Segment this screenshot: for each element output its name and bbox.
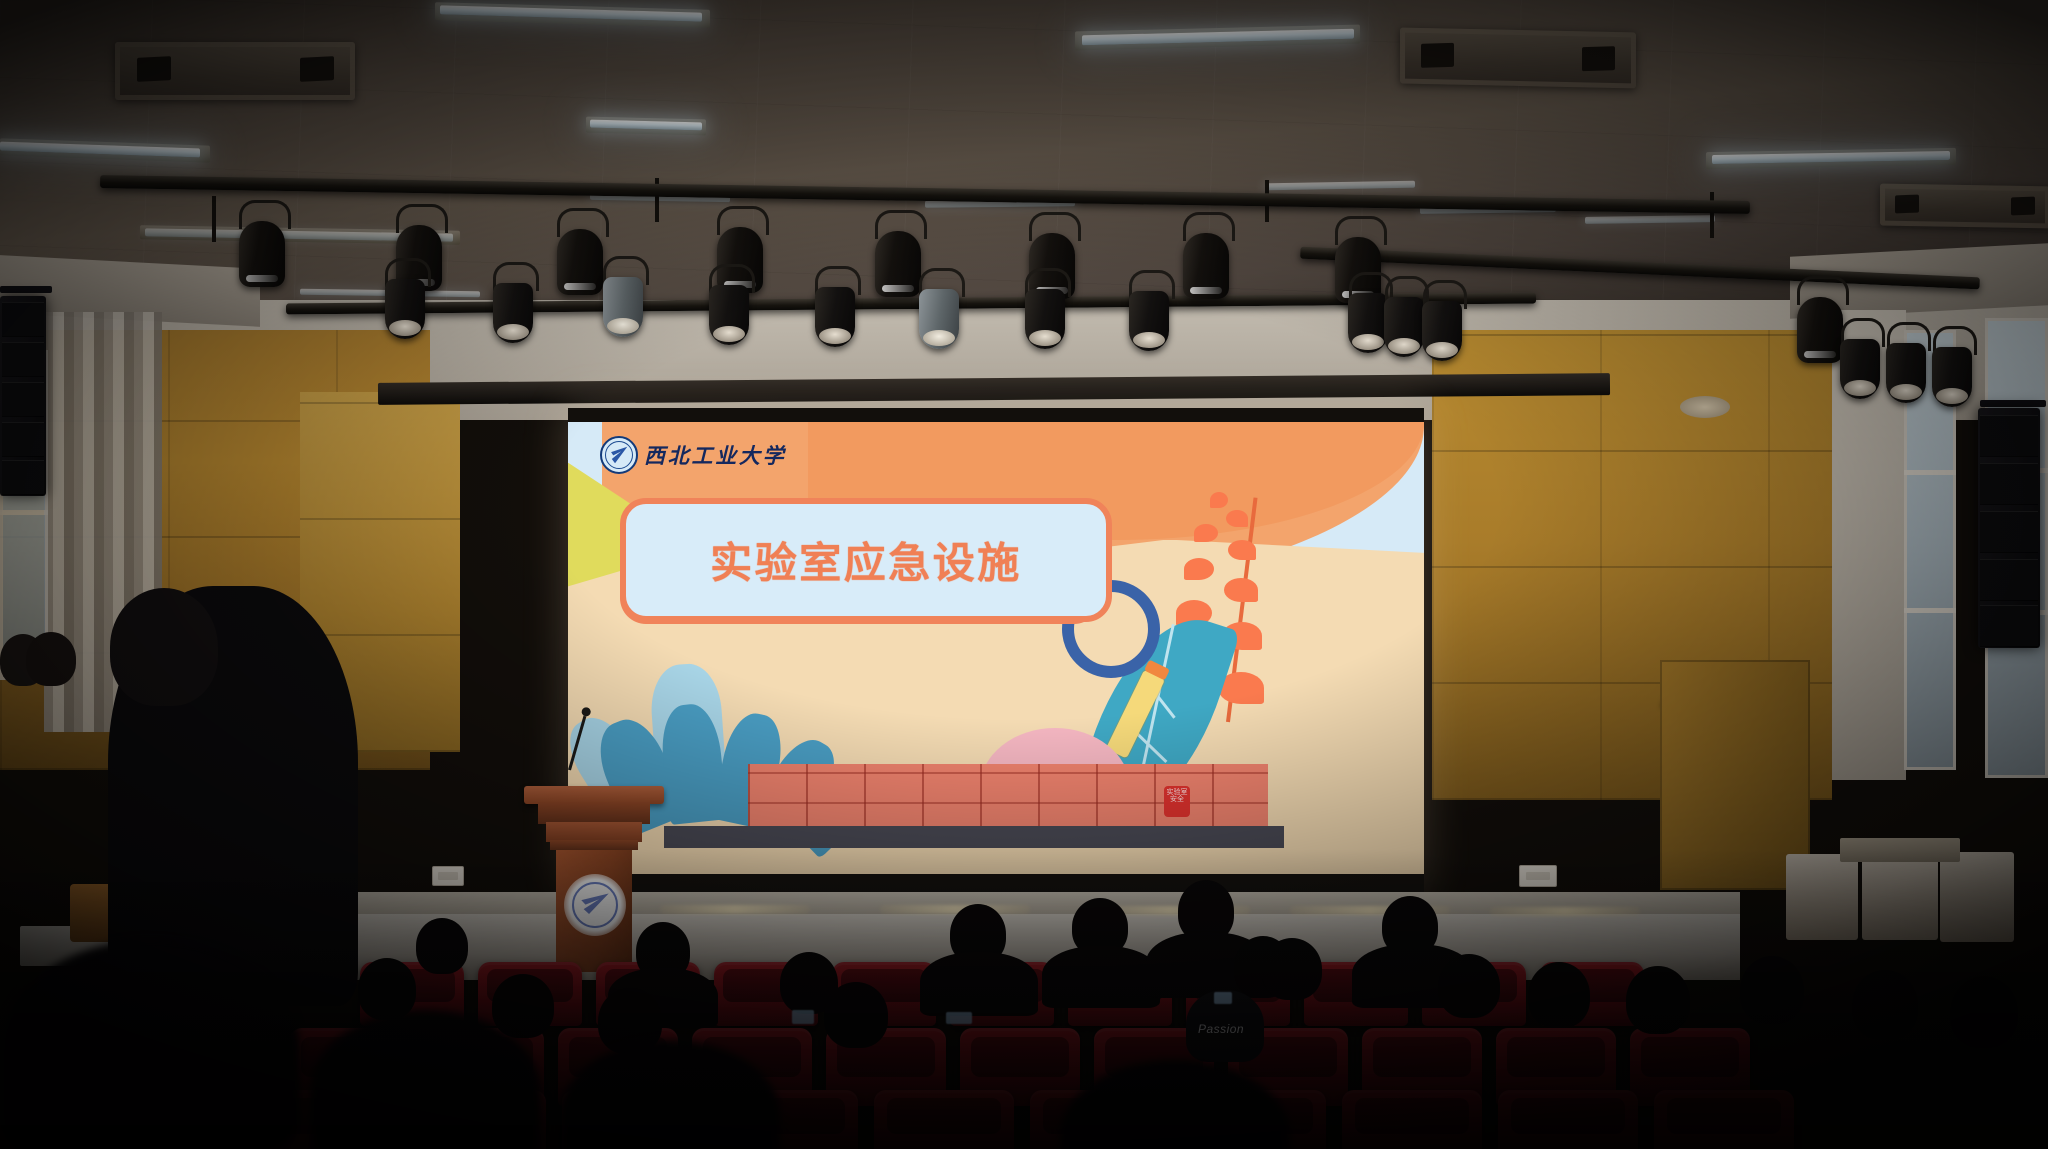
fresnel-body <box>1025 289 1065 349</box>
fresnel-stage-light <box>706 264 752 348</box>
university-name: 西北工业大学 <box>644 440 786 470</box>
phone-screen-glow <box>1214 992 1232 1004</box>
window-mullion <box>1904 608 1956 613</box>
fresnel-body <box>1129 291 1169 351</box>
spotlight-body <box>1183 233 1229 299</box>
speaker-mount-bar <box>0 286 52 293</box>
wooden-chair[interactable] <box>1786 854 1858 940</box>
audience-member-head <box>1438 954 1500 1018</box>
stage-spotlight <box>1838 318 1882 396</box>
stage-spotlight <box>1180 212 1232 304</box>
air-conditioning-vent <box>1880 184 2048 229</box>
audience-member-head <box>824 982 888 1048</box>
audience-member-head <box>1262 938 1322 1000</box>
slide-title: 实验室应急设施 <box>626 530 1106 591</box>
fresnel-body <box>385 279 425 339</box>
fern-leaf <box>1210 492 1228 508</box>
audience-member-head <box>1950 976 2018 1048</box>
screen-bottom-bar <box>568 874 1424 892</box>
seal-text: 实验室安全 <box>1167 788 1188 803</box>
stage-footlight <box>880 905 1030 914</box>
phone-screen-glow <box>792 1010 814 1024</box>
fresnel-stage-light <box>1022 268 1068 352</box>
title-box: 实验室应急设施 <box>620 498 1112 622</box>
left-line-array-speaker <box>0 296 46 496</box>
fresnel-body <box>815 287 855 347</box>
ceiling-dome-light <box>1680 396 1730 418</box>
fresnel-stage-light <box>490 262 536 346</box>
window-mullion <box>1904 470 1956 475</box>
university-seal-icon <box>600 436 638 474</box>
coral-tiled-floor <box>748 764 1268 834</box>
cap-brand-text: Passion <box>1198 1022 1244 1036</box>
speaker-module <box>2 302 44 336</box>
fresnel-body <box>919 289 959 349</box>
speaker-module <box>1980 415 2037 456</box>
presentation-slide: 西北工业大学 <box>568 422 1424 874</box>
fern-leaf <box>1224 578 1258 602</box>
screen-top-bar <box>568 408 1424 422</box>
audience-member-head <box>1852 970 1918 1040</box>
stage-spotlight <box>236 200 288 292</box>
fresnel-body <box>709 285 749 345</box>
spotlight-body <box>239 221 285 287</box>
spotlight-body <box>1932 347 1972 407</box>
spotlight-body <box>875 231 921 297</box>
audience-member-head <box>416 918 468 974</box>
speaker-module <box>1980 605 2037 646</box>
foreground-person <box>0 940 300 1149</box>
right-line-array-speaker <box>1978 408 2040 648</box>
truss-drop-rod <box>212 196 216 242</box>
auditorium-seat[interactable] <box>1654 1090 1794 1149</box>
stage-spotlight <box>1420 280 1464 358</box>
fern-leaf <box>1228 540 1256 560</box>
podium-lip <box>538 802 650 824</box>
stage-footlight <box>1490 907 1640 916</box>
stage-footlight <box>660 905 810 914</box>
spotlight-body <box>557 229 603 295</box>
stage-spotlight <box>1884 322 1928 400</box>
fern-leaf <box>1184 558 1214 580</box>
spotlight-body <box>1384 297 1424 357</box>
audience-member-shoulders <box>920 952 1038 1016</box>
audience-member-head <box>1528 962 1590 1028</box>
speaker-module <box>1980 463 2037 504</box>
red-square-seal: 实验室安全 <box>1164 786 1190 817</box>
audience-member-head <box>492 974 554 1038</box>
laptop-screen-glow <box>946 1012 972 1024</box>
audience-member-shoulders <box>1042 946 1160 1008</box>
spotlight-body <box>1886 343 1926 403</box>
auditorium-seat[interactable] <box>874 1090 1014 1149</box>
air-conditioning-vent <box>1400 28 1636 89</box>
speaker-module <box>2 422 44 456</box>
fresnel-stage-light <box>916 268 962 352</box>
fresnel-stage-light <box>1126 270 1172 354</box>
spotlight-body <box>1840 339 1880 399</box>
speaker-module <box>2 460 44 494</box>
stage-spotlight <box>1930 326 1974 404</box>
spotlight-body <box>1422 301 1462 361</box>
seal-wing-glyph <box>610 446 628 464</box>
podium-neck <box>546 822 642 842</box>
speaker-module <box>1980 511 2037 552</box>
wall-socket[interactable] <box>1519 865 1557 887</box>
university-logo: 西北工业大学 <box>600 436 786 474</box>
fresnel-stage-light <box>600 256 646 340</box>
auditorium-photo: 西北工业大学 <box>0 0 2048 1149</box>
truss-drop-rod <box>1710 192 1714 238</box>
speaker-module <box>2 382 44 416</box>
fresnel-stage-light <box>382 258 428 342</box>
floor-dark-band <box>664 826 1284 848</box>
audience-member-head <box>26 632 76 686</box>
air-conditioning-vent <box>115 42 355 100</box>
fern-leaf <box>1194 524 1218 542</box>
wooden-chair[interactable] <box>1940 852 2014 942</box>
spotlight-body <box>1797 297 1843 363</box>
fresnel-body <box>603 277 643 337</box>
window-mullion <box>0 510 48 515</box>
stage-spotlight <box>554 208 606 300</box>
fresnel-body <box>493 283 533 343</box>
auditorium-seat[interactable] <box>1342 1090 1482 1149</box>
projector-screen[interactable]: 西北工业大学 <box>568 408 1424 892</box>
auditorium-seat[interactable] <box>1498 1090 1638 1149</box>
speaker-module <box>2 342 44 376</box>
fresnel-stage-light <box>812 266 858 350</box>
podium-collar <box>550 840 638 850</box>
speaker-mount-bar <box>1980 400 2046 407</box>
fern-leaf <box>1226 510 1248 527</box>
side-table <box>1840 838 1960 862</box>
wall-socket[interactable] <box>432 866 464 886</box>
podium-emblem <box>564 874 626 936</box>
speaker-module <box>1980 559 2037 600</box>
standing-person-head <box>110 588 218 706</box>
audience-member-head <box>1626 966 1690 1034</box>
audience-member-head <box>1740 956 1804 1024</box>
